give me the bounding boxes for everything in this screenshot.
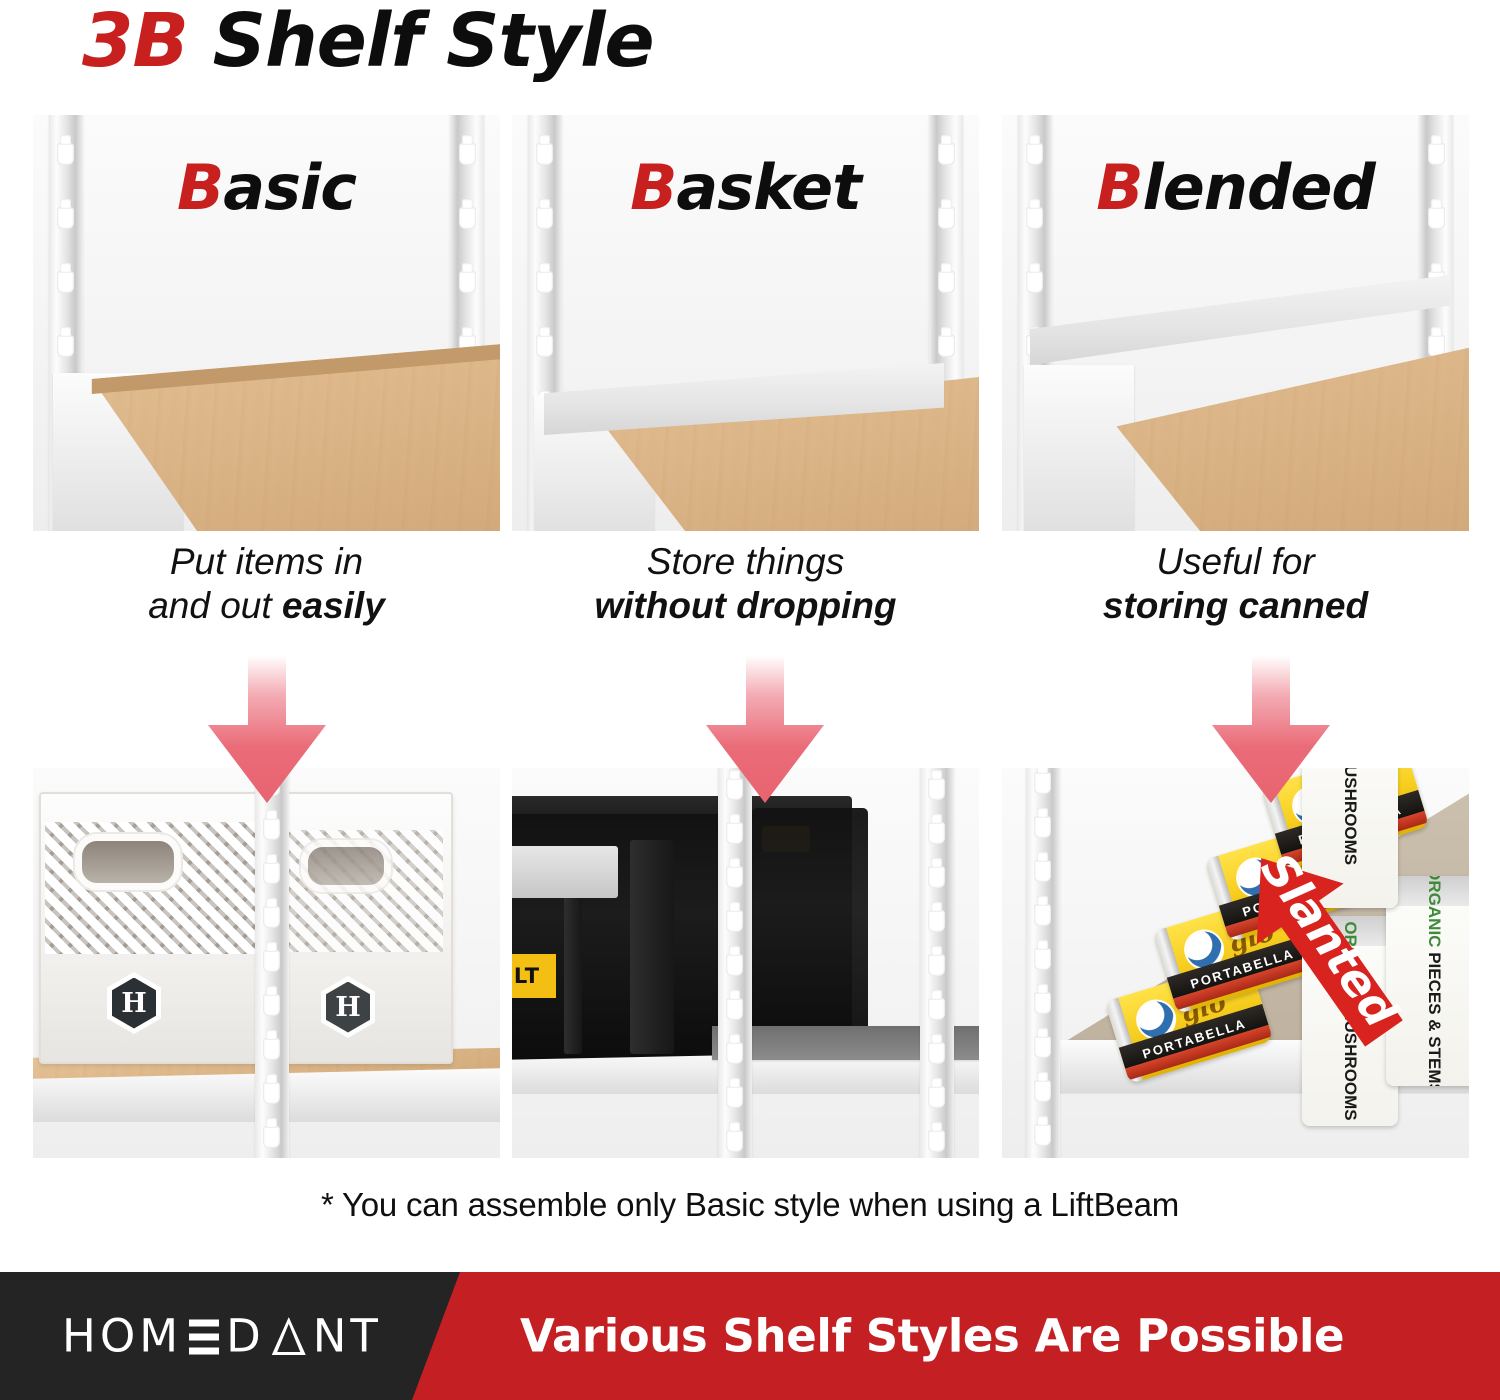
brand-glyph-a-icon [272,1317,306,1355]
style-label-accent: B [177,151,223,224]
shelf-post-right-toolbox [920,768,954,1158]
style-label-rest: asket [676,151,860,224]
down-arrow-basic-icon [192,655,342,805]
example-panel-basket: LT [512,768,979,1158]
caption-plain: and out [148,585,282,626]
style-label-blended: Blended [1002,151,1469,224]
page-title-accent: 3B [82,0,188,84]
toolbox-rib-2 [630,840,674,1054]
style-label-accent: B [630,151,676,224]
caption-line-2: storing canned [1002,584,1469,628]
tool-box-rear [752,808,868,1050]
caption-bold: storing canned [1103,585,1368,626]
brand-text-part1: HOM [62,1314,182,1359]
shelf-post-front-crate [255,768,289,1158]
example-panel-blended: gio PORTABELLA gio PORTABELLA gio PORTAB… [1002,768,1469,1158]
style-label-rest: lended [1143,151,1375,224]
footer-tagline: Various Shelf Styles Are Possible [520,1310,1344,1363]
shelf-post-left-cans [1026,768,1060,1158]
shelf-apron-blended [1024,365,1134,531]
crate-handle-front [75,834,181,890]
caption-basket: Store things without dropping [512,540,979,627]
crate-handle-side [301,840,391,892]
style-label-basket: Basket [512,151,979,224]
page-header: 3B Shelf Style [0,0,1500,108]
footer-bar: HOM D NT Various Shelf Styles Are Possib… [0,1272,1500,1400]
crate-logo-letter: H [121,990,147,1017]
down-arrow-basket-icon [690,655,840,805]
brand-text-part2: D [226,1314,265,1359]
caption-blended: Useful for storing canned [1002,540,1469,627]
style-label-rest: asic [223,151,356,224]
caption-line-1: Useful for [1002,540,1469,584]
style-panel-basket: Basket [512,115,979,531]
page-title-rest: Shelf Style [188,0,654,84]
style-label-accent: B [1096,151,1142,224]
caption-basic: Put items in and out easily [33,540,500,627]
style-label-basic: Basic [33,151,500,224]
slanted-badge: Slanted [1172,830,1469,1060]
toolbox-metal-tray [512,846,618,898]
style-panel-blended: Blended [1002,115,1469,531]
toolbox-brand-label: LT [512,954,556,998]
caption-line-2: and out easily [33,584,500,628]
shelf-post-front-toolbox [718,768,752,1158]
brand-text-part3: NT [313,1314,382,1359]
caption-line-2: without dropping [512,584,979,628]
footnote-text: * You can assemble only Basic style when… [0,1186,1500,1224]
caption-bold: easily [282,585,385,626]
slanted-badge-text: Slanted [1250,843,1409,1038]
crate-logo-letter: H [335,994,361,1021]
page-title: 3B Shelf Style [82,0,654,84]
caption-line-1: Put items in [33,540,500,584]
caption-bold: without dropping [594,585,896,626]
brand-glyph-e-icon [189,1317,219,1355]
down-arrow-blended-icon [1196,655,1346,805]
caption-line-1: Store things [512,540,979,584]
example-panel-basic: H H [33,768,500,1158]
brand-logo: HOM D NT [62,1314,382,1359]
style-panel-basic: Basic [33,115,500,531]
